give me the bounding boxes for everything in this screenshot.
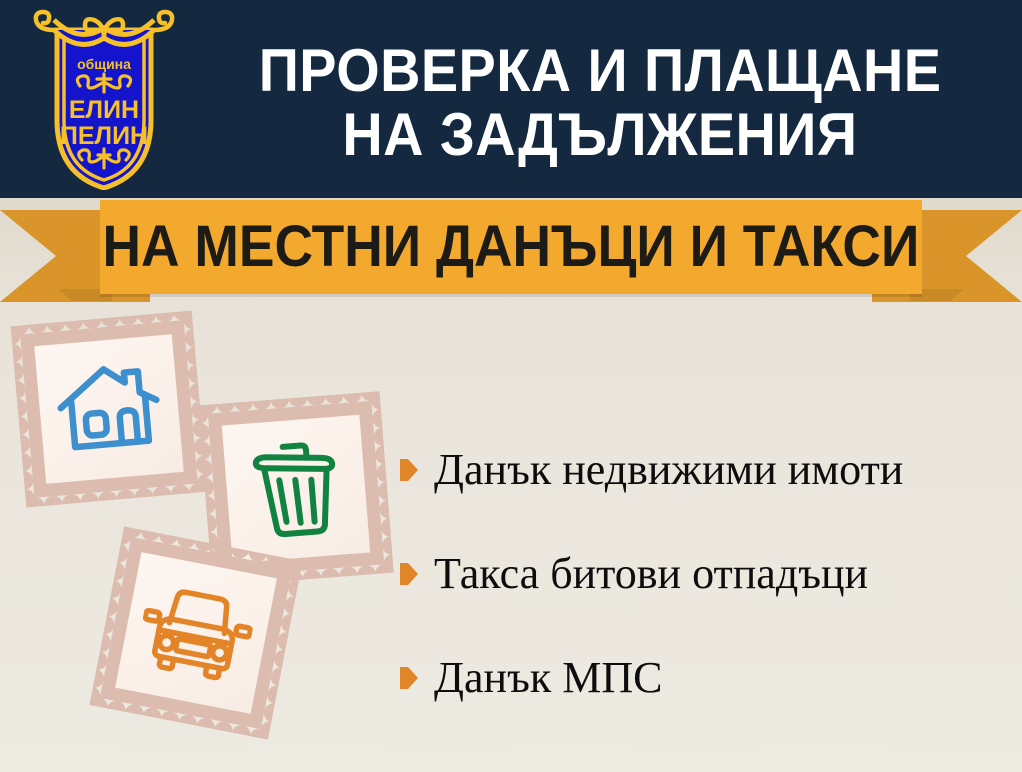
crest-name-line2: ПЕЛИН: [60, 122, 148, 150]
coat-of-arms: община ЕЛИН ПЕЛИН: [24, 8, 184, 190]
stamp-card-vehicle: [89, 526, 302, 739]
subtitle-ribbon: НА МЕСТНИ ДАНЪЦИ И ТАКСИ: [0, 196, 1022, 308]
crest-name-line1: ЕЛИН: [69, 96, 139, 124]
tax-types-list: Данък недвижими имоти Такса битови отпад…: [400, 418, 1012, 730]
list-item[interactable]: Данък МПС: [400, 626, 1012, 730]
trash-can-icon: [222, 415, 370, 563]
car-icon: [115, 552, 277, 714]
list-item[interactable]: Такса битови отпадъци: [400, 522, 1012, 626]
poster-canvas: община ЕЛИН ПЕЛИН ПРОВЕРКА И ПЛАЩАНЕ НА …: [0, 0, 1022, 772]
list-item-label: Данък недвижими имоти: [434, 446, 903, 494]
coat-of-arms-svg: община ЕЛИН ПЕЛИН: [24, 8, 184, 190]
stamp-card-property: [10, 310, 207, 507]
crest-top-text: община: [77, 56, 131, 72]
bullet-arrow-icon: [400, 563, 418, 585]
ribbon-band: НА МЕСТНИ ДАНЪЦИ И ТАКСИ: [100, 200, 922, 294]
title-line-1: ПРОВЕРКА И ПЛАЩАНЕ: [259, 40, 942, 102]
page-title: ПРОВЕРКА И ПЛАЩАНЕ НА ЗАДЪЛЖЕНИЯ: [190, 18, 1010, 188]
house-icon: [34, 334, 184, 484]
title-line-2: НА ЗАДЪЛЖЕНИЯ: [342, 104, 857, 166]
bullet-arrow-icon: [400, 459, 418, 481]
list-item-label: Такса битови отпадъци: [434, 550, 868, 598]
list-item[interactable]: Данък недвижими имоти: [400, 418, 1012, 522]
bullet-arrow-icon: [400, 667, 418, 689]
list-item-label: Данък МПС: [434, 654, 662, 702]
ribbon-text: НА МЕСТНИ ДАНЪЦИ И ТАКСИ: [103, 218, 920, 276]
